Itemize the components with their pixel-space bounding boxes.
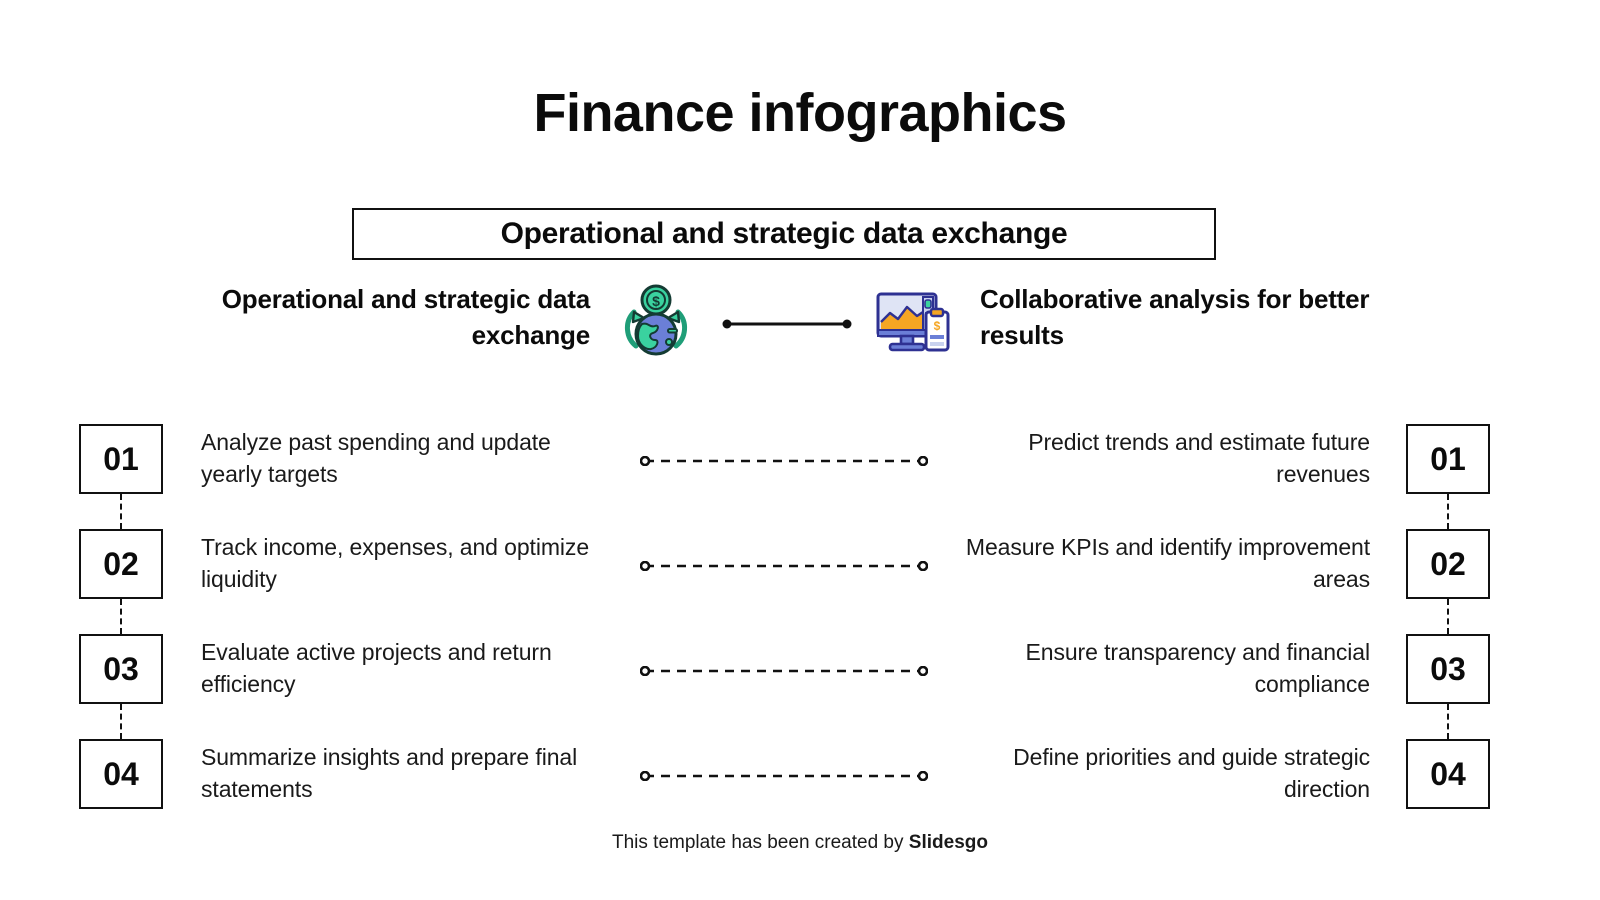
left-number-label-02: 02 (103, 546, 139, 583)
svg-text:$: $ (652, 293, 660, 309)
center-connector-2 (640, 558, 928, 568)
page-title: Finance infographics (0, 82, 1600, 144)
left-connector-dash-1 (120, 494, 122, 529)
right-number-label-02: 02 (1430, 546, 1466, 583)
left-item-text-03: Evaluate active projects and return effi… (201, 637, 601, 700)
right-number-label-03: 03 (1430, 651, 1466, 688)
left-item-text-02: Track income, expenses, and optimize liq… (201, 532, 601, 595)
right-number-box-03[interactable]: 03 (1406, 634, 1490, 704)
right-number-box-04[interactable]: 04 (1406, 739, 1490, 809)
globe-money-exchange-icon: $ (612, 278, 698, 364)
left-number-box-02[interactable]: 02 (79, 529, 163, 599)
left-item-text-01: Analyze past spending and update yearly … (201, 427, 601, 490)
left-number-box-01[interactable]: 01 (79, 424, 163, 494)
monitor-analytics-icon: $ (868, 278, 954, 364)
header-left-title: Operational and strategic data exchange (150, 282, 590, 354)
left-connector-dash-2 (120, 599, 122, 634)
right-item-text-01: Predict trends and estimate future reven… (960, 427, 1370, 490)
right-number-box-02[interactable]: 02 (1406, 529, 1490, 599)
header-right-title: Collaborative analysis for better result… (980, 282, 1420, 354)
center-connector-4 (640, 768, 928, 778)
left-number-label-04: 04 (103, 756, 139, 793)
svg-text:$: $ (934, 319, 941, 333)
header-connector-line (722, 316, 852, 326)
header-row: Operational and strategic data exchange … (0, 278, 1600, 370)
center-connector-1 (640, 453, 928, 463)
footer-credit: This template has been created by Slides… (0, 832, 1600, 854)
left-number-label-01: 01 (103, 441, 139, 478)
footer-prefix: This template has been created by (612, 832, 909, 853)
left-number-label-03: 03 (103, 651, 139, 688)
left-number-box-03[interactable]: 03 (79, 634, 163, 704)
right-item-text-02: Measure KPIs and identify improvement ar… (960, 532, 1370, 595)
left-item-text-04: Summarize insights and prepare final sta… (201, 742, 601, 805)
center-connector-3 (640, 663, 928, 673)
right-connector-dash-1 (1447, 494, 1449, 529)
right-number-label-04: 04 (1430, 756, 1466, 793)
right-number-label-01: 01 (1430, 441, 1466, 478)
left-connector-dash-3 (120, 704, 122, 739)
right-item-text-04: Define priorities and guide strategic di… (960, 742, 1370, 805)
right-connector-dash-2 (1447, 599, 1449, 634)
footer-brand-link[interactable]: Slidesgo (909, 832, 988, 853)
left-number-box-04[interactable]: 04 (79, 739, 163, 809)
subtitle-text: Operational and strategic data exchange (501, 217, 1068, 251)
right-connector-dash-3 (1447, 704, 1449, 739)
right-number-box-01[interactable]: 01 (1406, 424, 1490, 494)
right-item-text-03: Ensure transparency and financial compli… (960, 637, 1370, 700)
subtitle-box: Operational and strategic data exchange (352, 208, 1216, 260)
